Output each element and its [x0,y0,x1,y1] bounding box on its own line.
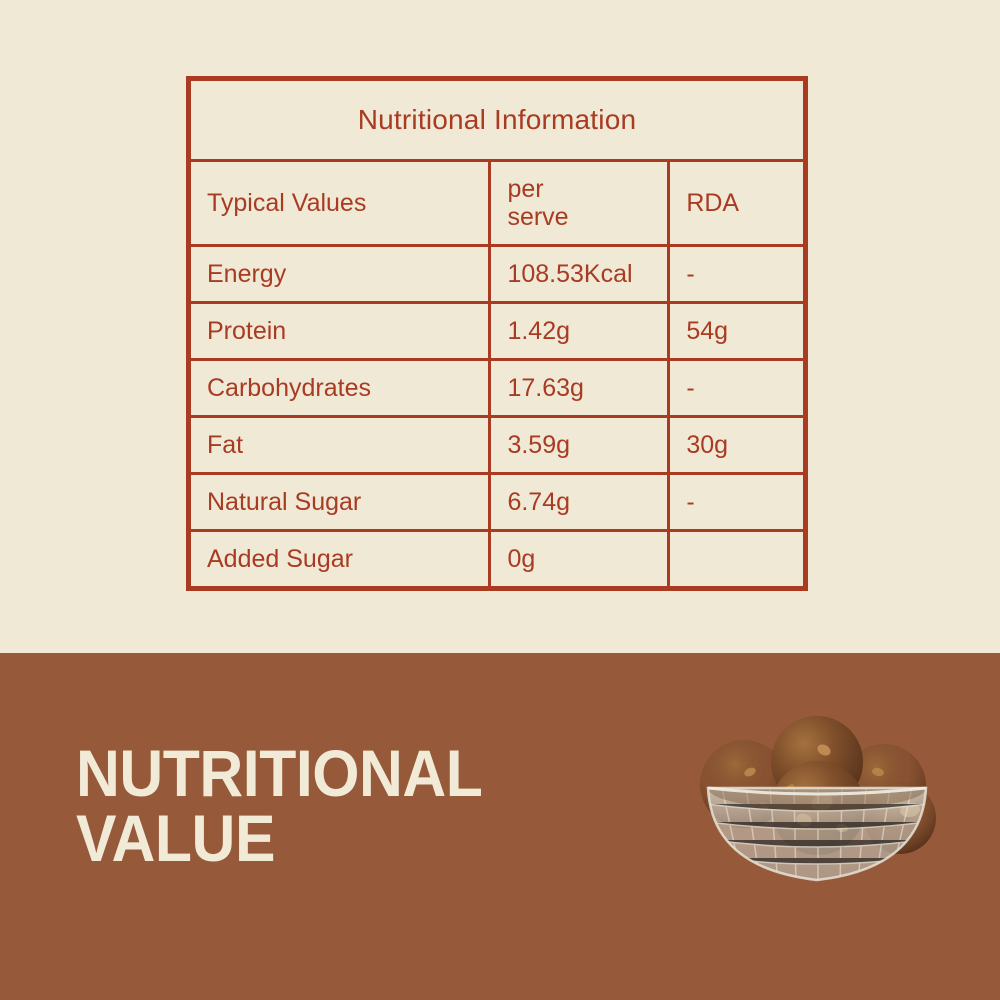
table-row: Energy 108.53Kcal - [189,246,806,303]
column-header-per-serve-line1: per [507,175,543,203]
row-rda: 30g [669,417,806,474]
table-row: Fat 3.59g 30g [189,417,806,474]
row-label: Energy [189,246,490,303]
banner-title: NUTRITIONAL VALUE [76,741,628,870]
row-per-serve: 0g [490,531,669,589]
column-header-per-serve: per serve [490,161,669,246]
nutritional-information-table: Nutritional Information Typical Values p… [186,76,808,591]
row-label: Added Sugar [189,531,490,589]
row-per-serve: 3.59g [490,417,669,474]
table-header-row: Typical Values per serve RDA [189,161,806,246]
row-rda: - [669,360,806,417]
row-label: Carbohydrates [189,360,490,417]
row-per-serve: 1.42g [490,303,669,360]
row-per-serve: 108.53Kcal [490,246,669,303]
row-label: Protein [189,303,490,360]
row-per-serve: 17.63g [490,360,669,417]
bottom-banner: NUTRITIONAL VALUE [0,653,1000,1000]
column-header-typical-values: Typical Values [189,161,490,246]
column-header-rda: RDA [669,161,806,246]
nutrition-poster: Nutritional Information Typical Values p… [0,0,1000,1000]
row-rda: - [669,246,806,303]
row-rda: 54g [669,303,806,360]
row-label: Natural Sugar [189,474,490,531]
table-row: Natural Sugar 6.74g - [189,474,806,531]
column-header-per-serve-line2: serve [507,203,568,231]
table-row: Protein 1.42g 54g [189,303,806,360]
row-label: Fat [189,417,490,474]
row-per-serve: 6.74g [490,474,669,531]
row-rda: - [669,474,806,531]
table-row: Added Sugar 0g [189,531,806,589]
product-photo-laddu-bowl [672,668,962,898]
row-rda [669,531,806,589]
table-title-row: Nutritional Information [189,79,806,161]
table-area: Nutritional Information Typical Values p… [0,0,1000,653]
table-title: Nutritional Information [189,79,806,161]
table-row: Carbohydrates 17.63g - [189,360,806,417]
